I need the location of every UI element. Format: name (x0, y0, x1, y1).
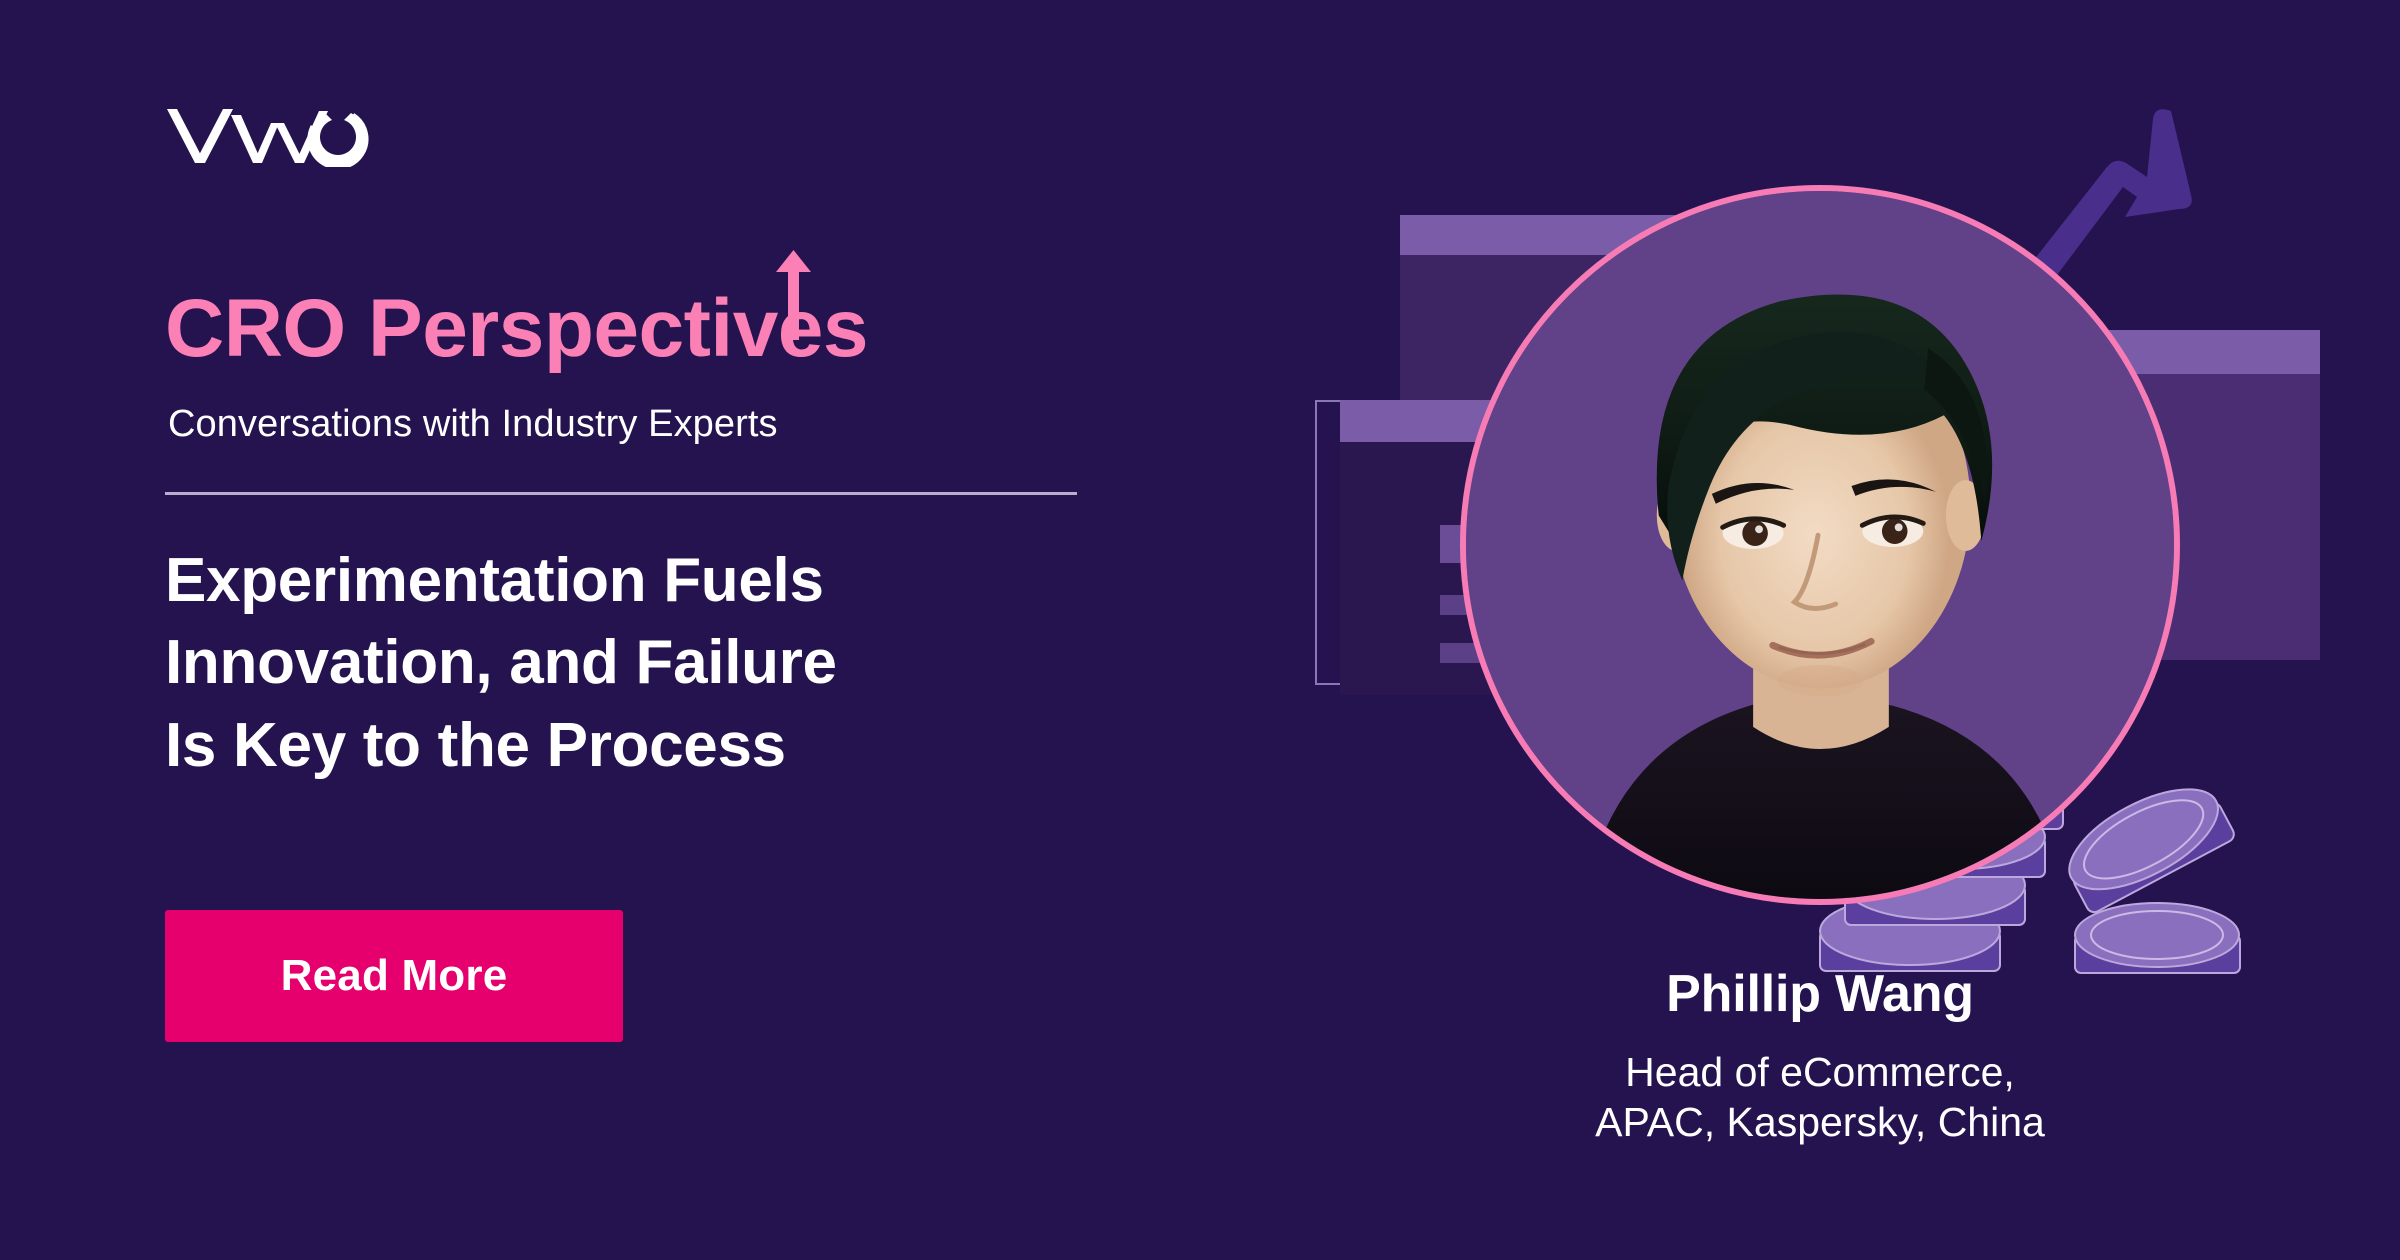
speaker-role-line-1: Head of eCommerce, (1290, 1047, 2350, 1097)
speaker-caption: Phillip Wang Head of eCommerce, APAC, Ka… (1290, 965, 2350, 1147)
speaker-name: Phillip Wang (1290, 965, 2350, 1025)
headline-line-2: Innovation, and Failure (165, 622, 837, 704)
read-more-button[interactable]: Read More (165, 910, 623, 1042)
headline-line-3: Is Key to the Process (165, 705, 837, 787)
headline-line-1: Experimentation Fuels (165, 540, 837, 622)
speaker-role-line-2: APAC, Kaspersky, China (1290, 1097, 2350, 1147)
speaker-role: Head of eCommerce, APAC, Kaspersky, Chin… (1290, 1047, 2350, 1147)
series-title: CRO Perspectives (165, 288, 868, 370)
cro-perspectives-banner: CRO Perspectives Conversations with Indu… (0, 0, 2400, 1260)
headline: Experimentation Fuels Innovation, and Fa… (165, 540, 837, 787)
section-divider (165, 492, 1077, 495)
left-content-column: CRO Perspectives Conversations with Indu… (165, 0, 1165, 1260)
speaker-avatar (1460, 185, 2180, 905)
series-subtitle: Conversations with Industry Experts (168, 405, 778, 443)
vwo-logo[interactable] (165, 105, 370, 167)
